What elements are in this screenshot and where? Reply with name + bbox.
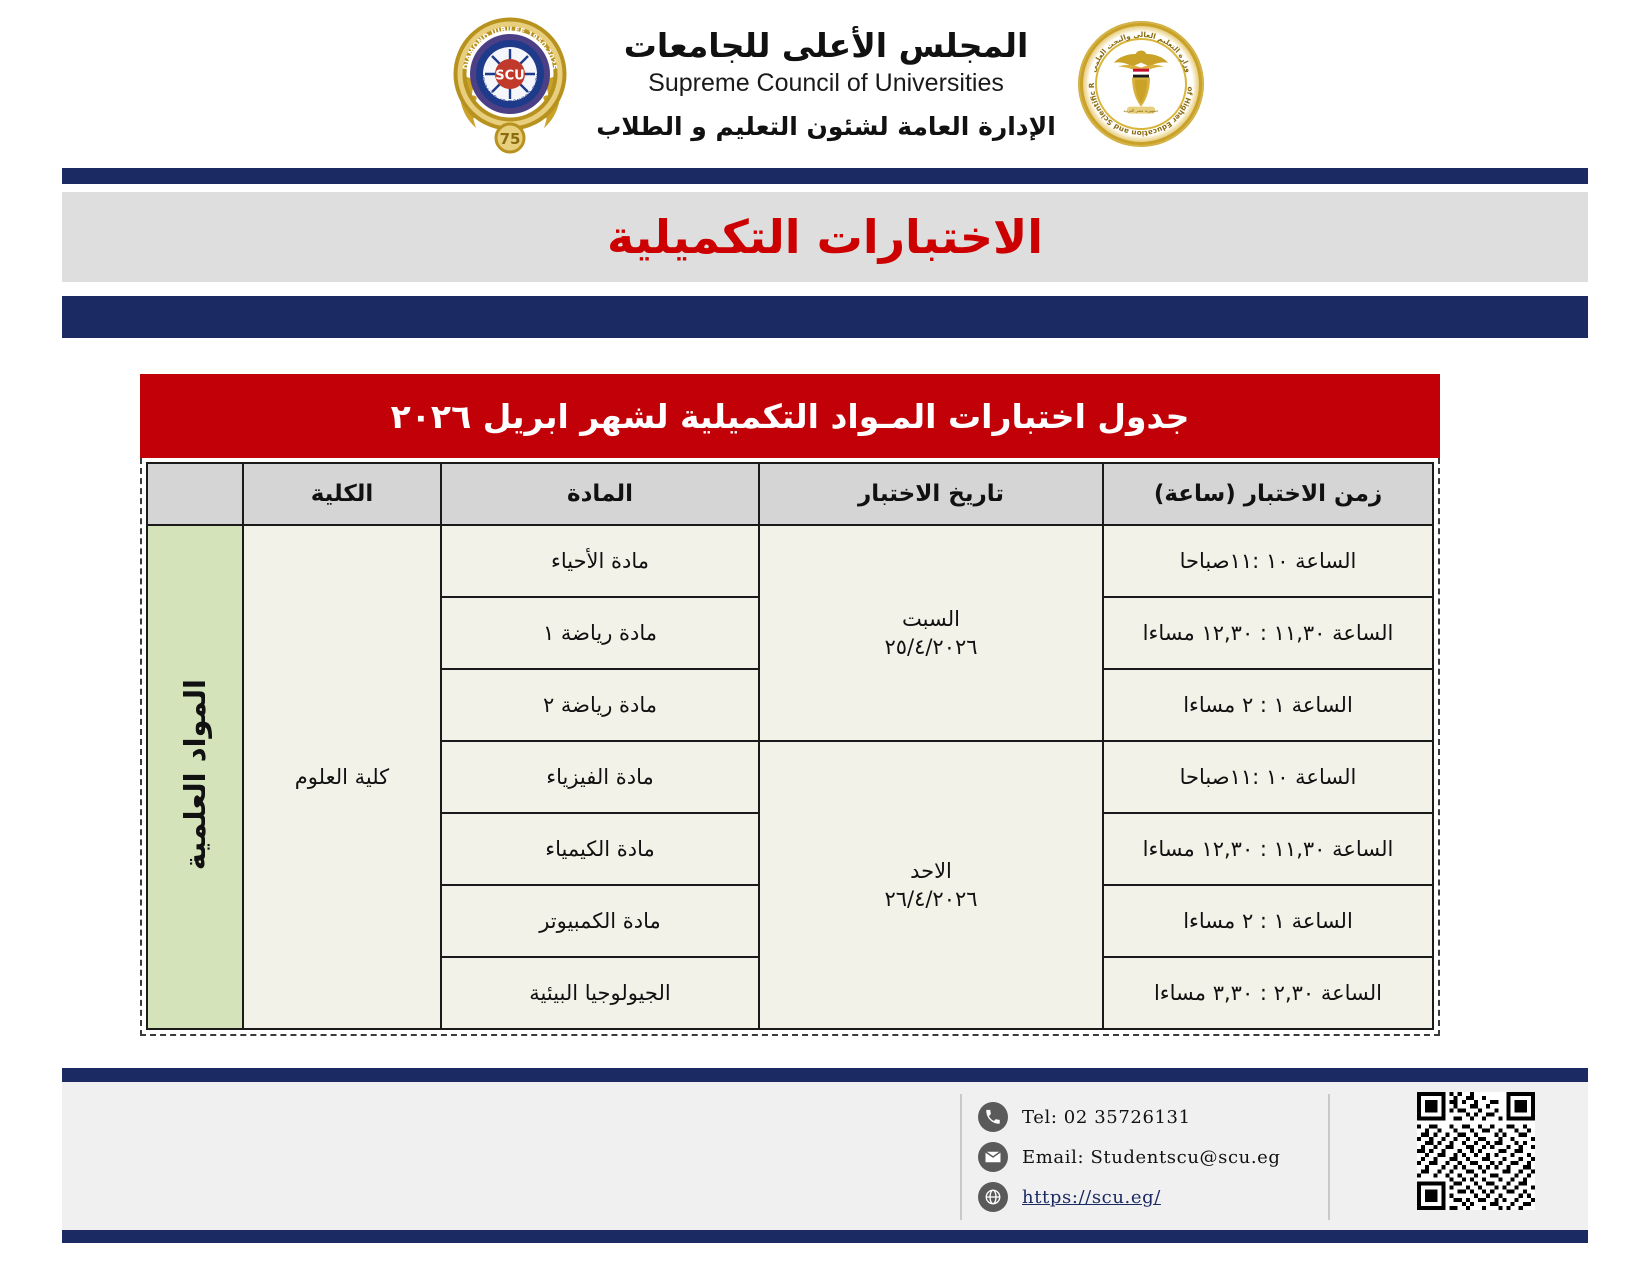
document-header: وزارة التعليم العالى والبحث العلمى Minis… [0, 0, 1650, 168]
contact-row-website[interactable]: https://scu.eg/ [978, 1182, 1312, 1212]
column-header-subject: المادة [441, 463, 759, 525]
footer-band [62, 1082, 1588, 1230]
footer-divider-top [62, 1068, 1588, 1082]
cell-time: الساعة ١١,٣٠ : ١٢,٣٠ مساءا [1103, 813, 1433, 885]
table-row: الساعة ١٠ :١١صباحا السبت ٢٥/٤/٢٠٢٦ مادة … [147, 525, 1433, 597]
cell-subject: مادة رياضة ١ [441, 597, 759, 669]
eagle-of-saladin-icon: جمهورية مصر العربية [1110, 49, 1172, 117]
contact-panel: Tel: 02 35726131 Email: Studentscu@scu.e… [960, 1094, 1330, 1220]
document-page: وزارة التعليم العالى والبحث العلمى Minis… [0, 0, 1650, 1275]
globe-icon [978, 1182, 1008, 1212]
table-caption: جدول اختبارات المـواد التكميلية لشهر ابر… [140, 374, 1440, 458]
envelope-icon [978, 1142, 1008, 1172]
cell-time: الساعة ١ : ٢ مساءا [1103, 669, 1433, 741]
cell-time: الساعة ١١,٣٠ : ١٢,٣٠ مساءا [1103, 597, 1433, 669]
exam-schedule-table: زمن الاختبار (ساعة) تاريخ الاختبار الماد… [146, 462, 1434, 1030]
header-title-block: المجلس الأعلى للجامعات Supreme Council o… [588, 27, 1064, 140]
department-subtitle: الإدارة العامة لشئون التعليم و الطلاب [596, 112, 1056, 141]
table-dashed-frame: زمن الاختبار (ساعة) تاريخ الاختبار الماد… [140, 458, 1440, 1036]
tel-text: Tel: 02 35726131 [1022, 1107, 1191, 1128]
cell-subject: مادة الكمبيوتر [441, 885, 759, 957]
cell-faculty: كلية العلوم [243, 525, 441, 1029]
ministry-seal-icon: وزارة التعليم العالى والبحث العلمى Minis… [1078, 21, 1204, 147]
contact-row-tel: Tel: 02 35726131 [978, 1102, 1312, 1132]
cell-time: الساعة ١٠ :١١صباحا [1103, 741, 1433, 813]
navy-divider-bottom [62, 296, 1588, 338]
date-value: ٢٥/٤/٢٠٢٦ [760, 633, 1102, 661]
banner-title: الاختبارات التكميلية [607, 210, 1043, 264]
date-day: السبت [760, 605, 1102, 633]
scu-emblem-icon: DIAMOND JUBILEE 1950-2025 SCU [446, 14, 574, 154]
column-header-faculty: الكلية [243, 463, 441, 525]
category-label: المواد العلمية [178, 679, 212, 870]
cell-subject: مادة رياضة ٢ [441, 669, 759, 741]
svg-text:جمهورية مصر العربية: جمهورية مصر العربية [1123, 108, 1159, 113]
navy-divider-top [62, 168, 1588, 184]
cell-date: الاحد ٢٦/٤/٢٠٢٦ [759, 741, 1103, 1029]
phone-icon [978, 1102, 1008, 1132]
table-head: زمن الاختبار (ساعة) تاريخ الاختبار الماد… [147, 463, 1433, 525]
cell-time: الساعة ١٠ :١١صباحا [1103, 525, 1433, 597]
table-header-row: زمن الاختبار (ساعة) تاريخ الاختبار الماد… [147, 463, 1433, 525]
cell-date: السبت ٢٥/٤/٢٠٢٦ [759, 525, 1103, 741]
column-header-date: تاريخ الاختبار [759, 463, 1103, 525]
cell-time: الساعة ١ : ٢ مساءا [1103, 885, 1433, 957]
column-header-category [147, 463, 243, 525]
cell-time: الساعة ٢,٣٠ : ٣,٣٠ مساءا [1103, 957, 1433, 1029]
cell-subject: مادة الكيمياء [441, 813, 759, 885]
org-title-english: Supreme Council of Universities [596, 68, 1056, 99]
cell-category: المواد العلمية [147, 525, 243, 1029]
footer-divider-bottom [62, 1230, 1588, 1243]
svg-text:SCU: SCU [495, 69, 524, 84]
date-value: ٢٦/٤/٢٠٢٦ [760, 885, 1102, 913]
cell-subject: مادة الفيزياء [441, 741, 759, 813]
table-body: الساعة ١٠ :١١صباحا السبت ٢٥/٤/٢٠٢٦ مادة … [147, 525, 1433, 1029]
cell-subject: مادة الأحياء [441, 525, 759, 597]
qr-code[interactable] [1417, 1092, 1535, 1210]
website-link[interactable]: https://scu.eg/ [1022, 1187, 1161, 1208]
contact-row-email: Email: Studentscu@scu.eg [978, 1142, 1312, 1172]
cell-subject: الجيولوجيا البيئية [441, 957, 759, 1029]
schedule-table-block: جدول اختبارات المـواد التكميلية لشهر ابر… [140, 374, 1440, 1036]
main-banner: الاختبارات التكميلية [62, 192, 1588, 282]
date-day: الاحد [760, 857, 1102, 885]
org-title-arabic: المجلس الأعلى للجامعات [596, 27, 1056, 66]
email-text: Email: Studentscu@scu.eg [1022, 1147, 1281, 1168]
column-header-time: زمن الاختبار (ساعة) [1103, 463, 1433, 525]
svg-text:75: 75 [500, 130, 521, 148]
